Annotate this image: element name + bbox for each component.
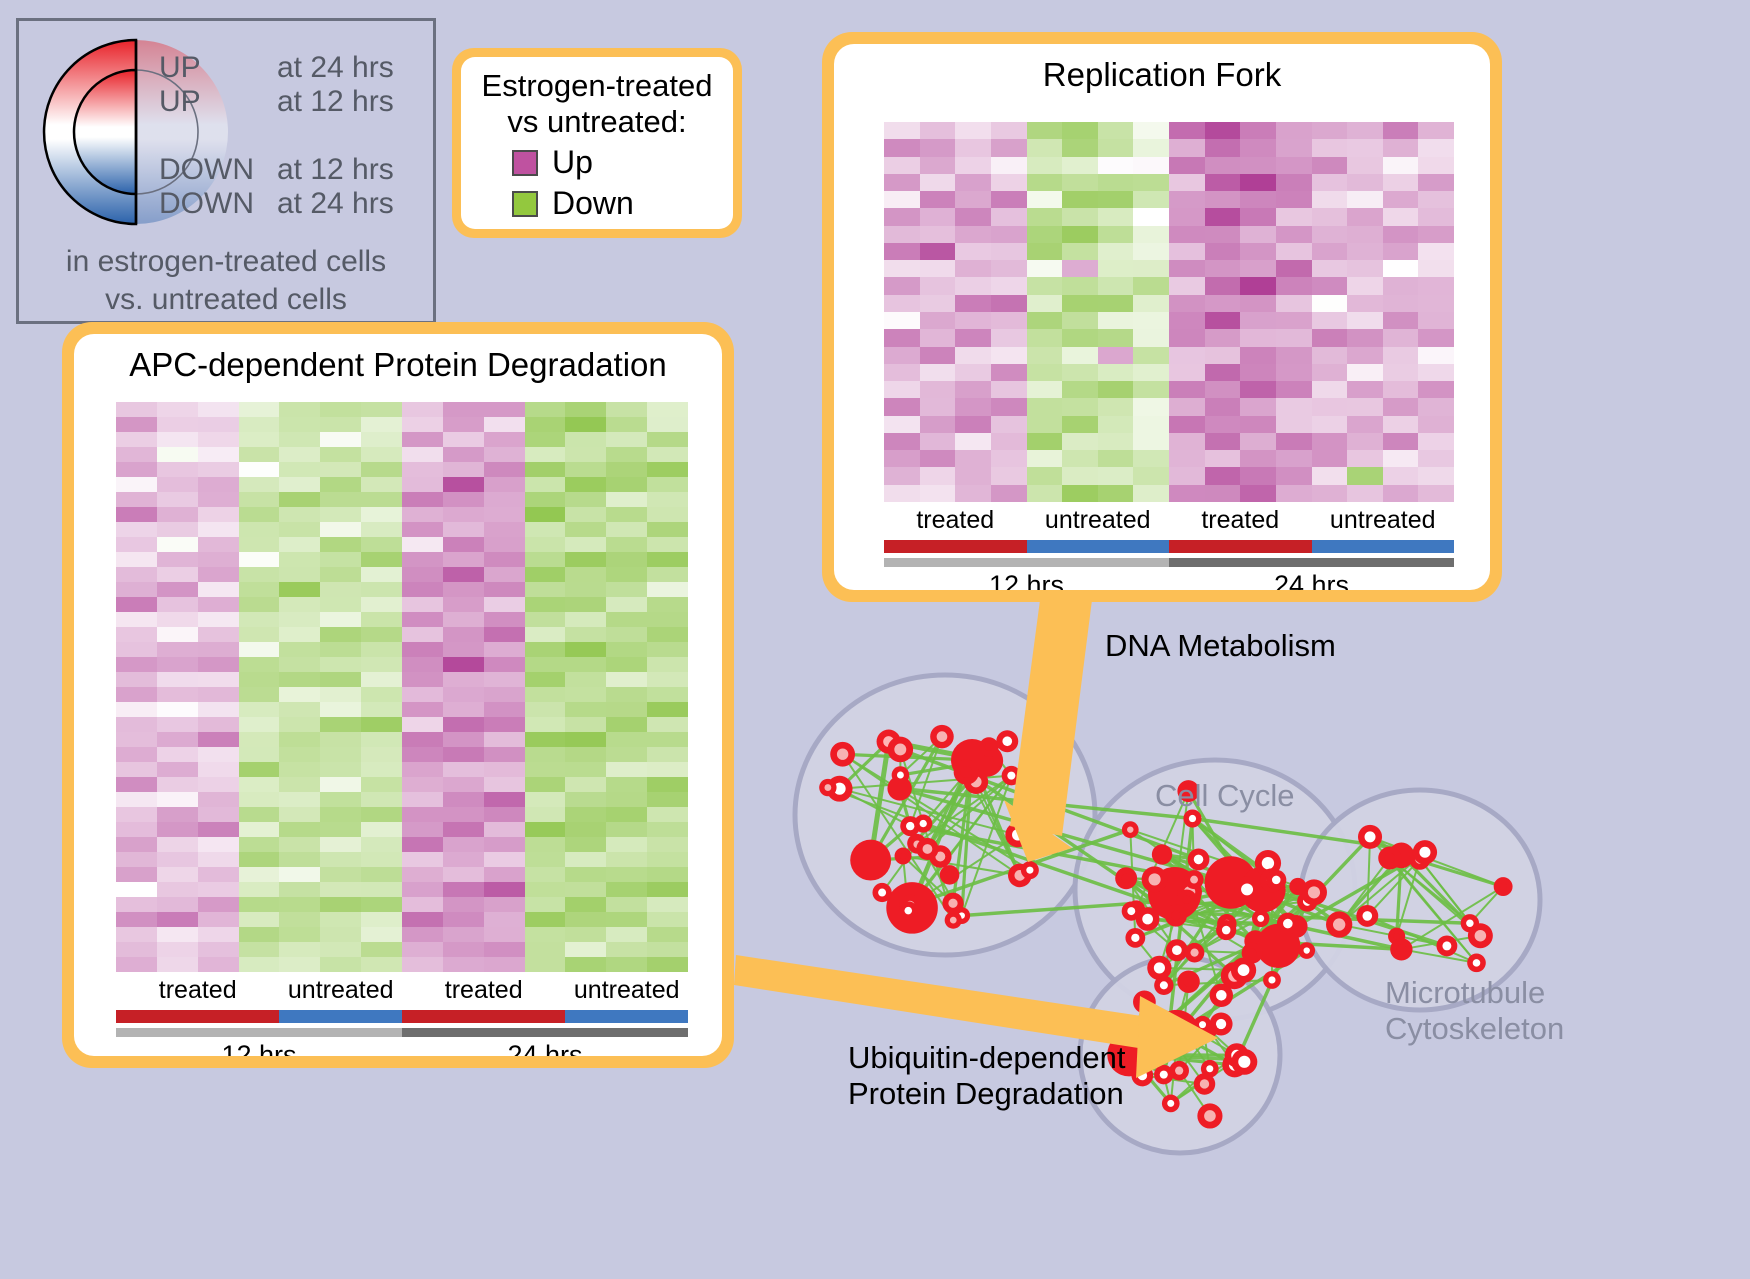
colour-wheel-rows: UP at 24 hrs UP at 12 hrs DOWN at 12 hrs… — [159, 51, 429, 221]
heatmap-cell — [157, 477, 198, 492]
heatmap-cell — [565, 417, 606, 432]
heatmap-cell — [157, 732, 198, 747]
pathway-network-diagram: DNA Metabolism Cell Cycle Microtubule Cy… — [760, 600, 1750, 1279]
heatmap-cell — [116, 627, 157, 642]
heatmap-cell — [1276, 347, 1312, 364]
heatmap-cell — [1169, 329, 1205, 346]
heatmap-cell — [320, 492, 361, 507]
network-node-core — [1127, 826, 1133, 832]
heatmap-cell — [1169, 174, 1205, 191]
heatmap-cell — [647, 627, 688, 642]
heatmap-cell — [1098, 347, 1134, 364]
heatmap-cell — [484, 477, 525, 492]
heatmap-cell — [157, 402, 198, 417]
heatmap-cell — [198, 417, 239, 432]
heatmap-cell — [402, 552, 443, 567]
heatmap-cell — [1098, 122, 1134, 139]
heatmap-cell — [239, 702, 280, 717]
heatmap-cell — [198, 777, 239, 792]
heatmap-cell — [239, 507, 280, 522]
heatmap-cell — [1347, 347, 1383, 364]
heatmap-cell — [884, 260, 920, 277]
heatmap-cell — [484, 627, 525, 642]
heatmap-cell — [1347, 277, 1383, 294]
heatmap-cell — [920, 416, 956, 433]
heatmap-cell — [279, 672, 320, 687]
heatmap-cell — [361, 477, 402, 492]
heatmap-cell — [991, 329, 1027, 346]
heatmap-cell — [1276, 208, 1312, 225]
heatmap-cell — [361, 492, 402, 507]
heatmap-cell — [157, 867, 198, 882]
heatmap-cell — [361, 897, 402, 912]
condition-bar-segment — [116, 1010, 279, 1023]
heatmap-cell — [1347, 260, 1383, 277]
heatmap-cell — [1169, 277, 1205, 294]
heatmap-cell — [361, 432, 402, 447]
heatmap-cell — [1312, 450, 1348, 467]
heatmap-cell — [116, 822, 157, 837]
heatmap-cell — [402, 657, 443, 672]
heatmap-cell — [157, 777, 198, 792]
heatmap-cell — [320, 792, 361, 807]
axis-apc-degradation: treated untreated treated untreated 12 h… — [116, 976, 688, 1056]
time-colour-bar — [116, 1028, 688, 1037]
heatmap-cell — [1133, 243, 1169, 260]
heatmap-cell — [443, 477, 484, 492]
wheel-time: at 12 hrs — [277, 85, 394, 119]
network-node-core — [1190, 949, 1198, 957]
heatmap-cell — [484, 567, 525, 582]
heatmap-cell — [361, 792, 402, 807]
network-node-core — [1308, 886, 1320, 898]
heatmap-cell — [920, 329, 956, 346]
heatmap-cell — [565, 942, 606, 957]
network-node-core — [1175, 1067, 1183, 1075]
heatmap-cell — [361, 567, 402, 582]
heatmap-cell — [991, 157, 1027, 174]
heatmap-cell — [116, 792, 157, 807]
heatmap-cell — [239, 852, 280, 867]
heatmap-cell — [1027, 329, 1063, 346]
heatmap-cell — [279, 432, 320, 447]
heatmap-cell — [443, 882, 484, 897]
heatmap-cell — [525, 852, 566, 867]
heatmap-cell — [361, 702, 402, 717]
network-node-core — [1222, 926, 1231, 935]
heatmap-cell — [116, 702, 157, 717]
heatmap-cell — [157, 432, 198, 447]
heatmap-cell — [1418, 208, 1454, 225]
heatmap-cell — [920, 347, 956, 364]
heatmap-cell — [1418, 416, 1454, 433]
heatmap-cell — [320, 447, 361, 462]
network-node-core — [1204, 1110, 1216, 1122]
heatmap-cell — [157, 912, 198, 927]
heatmap-cell — [320, 807, 361, 822]
heatmap-cell — [1240, 381, 1276, 398]
heatmap-cell — [525, 642, 566, 657]
heatmap-cell — [484, 822, 525, 837]
heatmap-cell — [1312, 433, 1348, 450]
heatmap-cell — [116, 612, 157, 627]
heatmap-cell — [157, 552, 198, 567]
heatmap-cell — [239, 747, 280, 762]
heatmap-cell — [484, 897, 525, 912]
heatmap-cell — [565, 912, 606, 927]
heatmap-cell — [239, 597, 280, 612]
heatmap-cell — [279, 897, 320, 912]
heatmap-cell — [1062, 329, 1098, 346]
heatmap-cell — [647, 867, 688, 882]
heatmap-cell — [1133, 191, 1169, 208]
heatmap-cell — [1062, 174, 1098, 191]
heatmap-cell — [1062, 208, 1098, 225]
heatmap-cell — [1062, 295, 1098, 312]
heatmap-cell — [239, 432, 280, 447]
heatmap-cell — [647, 477, 688, 492]
network-node-core — [1419, 847, 1430, 858]
heatmap-cell — [1169, 157, 1205, 174]
heatmap-cell — [279, 492, 320, 507]
heatmap-cell — [239, 522, 280, 537]
heatmap-cell — [920, 364, 956, 381]
heatmap-cell — [320, 642, 361, 657]
heatmap-cell — [157, 747, 198, 762]
heatmap-cell — [116, 432, 157, 447]
heatmap-cell — [565, 402, 606, 417]
heatmap-cell — [920, 277, 956, 294]
heatmap-cell — [1312, 122, 1348, 139]
network-node-core — [1385, 853, 1395, 863]
heatmap-cell — [606, 462, 647, 477]
heatmap-cell — [402, 492, 443, 507]
heatmap-cell — [484, 807, 525, 822]
heatmap-cell — [1062, 260, 1098, 277]
heatmap-cell — [361, 882, 402, 897]
heatmap-cell — [484, 732, 525, 747]
heatmap-cell — [991, 485, 1027, 502]
wheel-key: DOWN — [159, 153, 277, 187]
heatmap-cell — [565, 687, 606, 702]
heatmap-cell — [279, 447, 320, 462]
heatmap-cell — [239, 792, 280, 807]
heatmap-cell — [279, 582, 320, 597]
heatmap-cell — [955, 433, 991, 450]
heatmap-cell — [525, 732, 566, 747]
heatmap-cell — [565, 612, 606, 627]
heatmap-cell — [239, 642, 280, 657]
heatmap-cell — [1133, 450, 1169, 467]
heatmap-cell — [884, 122, 920, 139]
heatmap-cell — [320, 762, 361, 777]
heatmap-cell — [884, 277, 920, 294]
heatmap-cell — [1169, 347, 1205, 364]
heatmap-cell — [1347, 467, 1383, 484]
heatmap-cell — [116, 567, 157, 582]
heatmap-cell — [1169, 122, 1205, 139]
heatmap-cell — [116, 537, 157, 552]
heatmap-cell — [443, 627, 484, 642]
heatmap-cell — [402, 537, 443, 552]
heatmap-cell — [239, 627, 280, 642]
heatmap-cell — [402, 762, 443, 777]
network-node-core — [1167, 1100, 1174, 1107]
colour-wheel-footer: in estrogen-treated cells vs. untreated … — [19, 243, 433, 319]
heatmap-cell — [198, 837, 239, 852]
heatmap-cell — [606, 477, 647, 492]
heatmap-cell — [1027, 347, 1063, 364]
heatmap-cell — [647, 897, 688, 912]
network-node-core — [1362, 911, 1372, 921]
heatmap-cell — [1062, 416, 1098, 433]
heatmap-cell — [955, 329, 991, 346]
heatmap-cell — [484, 837, 525, 852]
heatmap-cell — [1169, 381, 1205, 398]
network-node-core — [878, 889, 886, 897]
heatmap-cell — [402, 567, 443, 582]
heatmap-cell — [361, 402, 402, 417]
heatmap-cell — [279, 627, 320, 642]
condition-label: untreated — [279, 976, 402, 1005]
ubiquitin-line-2: Protein Degradation — [848, 1076, 1126, 1112]
heatmap-cell — [1240, 260, 1276, 277]
heatmap-cell — [955, 139, 991, 156]
heatmap-cell — [279, 747, 320, 762]
heatmap-cell — [1169, 191, 1205, 208]
heatmap-cell — [443, 732, 484, 747]
heatmap-cell — [1383, 312, 1419, 329]
heatmap-cell — [157, 642, 198, 657]
heatmap-cell — [443, 552, 484, 567]
heatmap-cell — [1383, 191, 1419, 208]
heatmap-cell — [1027, 174, 1063, 191]
down-swatch — [512, 191, 538, 217]
heatmap-cell — [402, 462, 443, 477]
condition-bar-segment — [1027, 540, 1170, 553]
network-node-core — [824, 784, 831, 791]
heatmap-cell — [443, 807, 484, 822]
heatmap-cell — [647, 522, 688, 537]
heatmap-cell — [320, 942, 361, 957]
heatmap-cell — [361, 777, 402, 792]
heatmap-cell — [565, 777, 606, 792]
heatmap-cell — [279, 957, 320, 972]
heatmap-cell — [157, 672, 198, 687]
heatmap-cell — [1098, 485, 1134, 502]
heatmap-cell — [484, 597, 525, 612]
wheel-key: UP — [159, 85, 277, 119]
network-node-core — [985, 743, 993, 751]
heatmap-cell — [198, 852, 239, 867]
heatmap-cell — [1240, 174, 1276, 191]
heatmap-cell — [198, 957, 239, 972]
heatmap-cell — [991, 295, 1027, 312]
heatmap-cell — [239, 567, 280, 582]
heatmap-cell — [279, 597, 320, 612]
network-node-core — [904, 907, 912, 915]
heatmap-cell — [116, 867, 157, 882]
heatmap-cell — [1205, 467, 1241, 484]
microtubule-line-1: Microtubule — [1385, 975, 1564, 1011]
heatmap-cell — [991, 277, 1027, 294]
heatmap-cell — [443, 717, 484, 732]
time-label: 12 hrs — [116, 1040, 402, 1056]
network-node — [1152, 844, 1172, 864]
heatmap-cell — [565, 867, 606, 882]
heatmap-cell — [920, 243, 956, 260]
heatmap-cell — [1418, 139, 1454, 156]
heatmap-cell — [647, 852, 688, 867]
network-node-core — [1272, 876, 1281, 885]
heatmap-cell — [484, 462, 525, 477]
heatmap-cell — [239, 777, 280, 792]
heatmap-cell — [116, 747, 157, 762]
heatmap-cell — [1312, 467, 1348, 484]
heatmap-cell — [525, 792, 566, 807]
heatmap-cell — [955, 381, 991, 398]
heatmap-cell — [606, 837, 647, 852]
heatmap-cell — [647, 702, 688, 717]
condition-bar-segment — [402, 1010, 565, 1023]
heatmap-cell — [606, 717, 647, 732]
network-node-core — [1184, 977, 1194, 987]
heatmap-cell — [239, 912, 280, 927]
heatmap-cell — [402, 597, 443, 612]
heatmap-cell — [402, 867, 443, 882]
network-node-core — [1216, 1019, 1226, 1029]
heatmap-cell — [1347, 450, 1383, 467]
heatmap-cell — [361, 657, 402, 672]
footer-line-1: in estrogen-treated cells — [19, 243, 433, 281]
heatmap-cell — [525, 912, 566, 927]
heatmap-cell — [1240, 157, 1276, 174]
heatmap-cell — [920, 122, 956, 139]
network-node-core — [1238, 964, 1250, 976]
heatmap-cell — [1169, 450, 1205, 467]
heatmap-cell — [1098, 364, 1134, 381]
network-node-core — [960, 766, 972, 778]
heatmap-cell — [198, 477, 239, 492]
network-node-core — [897, 772, 904, 779]
heatmap-cell — [647, 657, 688, 672]
heatmap-cell — [955, 295, 991, 312]
heatmap-cell — [279, 762, 320, 777]
heatmap-cell — [116, 507, 157, 522]
heatmap-cell — [320, 432, 361, 447]
heatmap-cell — [525, 897, 566, 912]
heatmap-cell — [361, 957, 402, 972]
network-node-core — [920, 820, 927, 827]
heatmap-cell — [991, 381, 1027, 398]
heatmap-cell — [1027, 277, 1063, 294]
heatmap-cell — [525, 822, 566, 837]
heatmap-cell — [1383, 364, 1419, 381]
heatmap-cell — [1276, 260, 1312, 277]
heatmap-cell — [1027, 416, 1063, 433]
panel-title-replication-fork: Replication Fork — [834, 56, 1490, 94]
heatmap-cell — [884, 157, 920, 174]
heatmap-cell — [157, 717, 198, 732]
heatmap-cell — [157, 657, 198, 672]
heatmap-cell — [606, 582, 647, 597]
heatmap-cell — [565, 837, 606, 852]
network-node-core — [1142, 914, 1153, 925]
heatmap-cell — [565, 522, 606, 537]
heatmap-apc-degradation — [116, 402, 688, 972]
heatmap-cell — [320, 537, 361, 552]
heatmap-cell — [1347, 226, 1383, 243]
heatmap-cell — [239, 582, 280, 597]
heatmap-cell — [606, 822, 647, 837]
heatmap-cell — [198, 447, 239, 462]
heatmap-cell — [1383, 467, 1419, 484]
heatmap-cell — [1205, 398, 1241, 415]
heatmap-cell — [157, 627, 198, 642]
heatmap-cell — [606, 897, 647, 912]
heatmap-cell — [525, 522, 566, 537]
heatmap-cell — [402, 747, 443, 762]
heatmap-cell — [116, 492, 157, 507]
heatmap-cell — [991, 174, 1027, 191]
heatmap-cell — [361, 447, 402, 462]
network-node-core — [1241, 883, 1253, 895]
network-node-core — [1199, 1021, 1206, 1028]
heatmap-cell — [1027, 381, 1063, 398]
heatmap-cell — [1312, 416, 1348, 433]
heatmap-cell — [525, 447, 566, 462]
heatmap-cell — [1418, 191, 1454, 208]
heatmap-cell — [1133, 226, 1169, 243]
network-node-core — [1121, 873, 1131, 883]
heatmap-cell — [361, 507, 402, 522]
heatmap-cell — [361, 582, 402, 597]
network-node-core — [906, 822, 914, 830]
heatmap-cell — [1027, 260, 1063, 277]
heatmap-cell — [991, 226, 1027, 243]
heatmap-cell — [320, 717, 361, 732]
heatmap-cell — [361, 537, 402, 552]
heatmap-cell — [1347, 122, 1383, 139]
heatmap-cell — [484, 492, 525, 507]
axis-replication-fork: treated untreated treated untreated 12 h… — [884, 506, 1454, 590]
heatmap-cell — [443, 522, 484, 537]
heatmap-cell — [920, 226, 956, 243]
heatmap-cell — [279, 477, 320, 492]
heatmap-cell — [606, 957, 647, 972]
heatmap-cell — [606, 762, 647, 777]
heatmap-cell — [1098, 416, 1134, 433]
heatmap-cell — [884, 450, 920, 467]
heatmap-cell — [920, 260, 956, 277]
heatmap-cell — [991, 467, 1027, 484]
heatmap-cell — [239, 477, 280, 492]
heatmap-cell — [320, 867, 361, 882]
heatmap-cell — [1062, 139, 1098, 156]
heatmap-cell — [1133, 139, 1169, 156]
heatmap-cell — [443, 852, 484, 867]
heatmap-cell — [1098, 398, 1134, 415]
network-node-core — [1007, 772, 1015, 780]
heatmap-cell — [402, 672, 443, 687]
heatmap-cell — [484, 882, 525, 897]
heatmap-cell — [647, 642, 688, 657]
heatmap-cell — [1347, 312, 1383, 329]
heatmap-cell — [606, 642, 647, 657]
heatmap-cell — [647, 822, 688, 837]
heatmap-cell — [402, 687, 443, 702]
heatmap-cell — [1098, 381, 1134, 398]
